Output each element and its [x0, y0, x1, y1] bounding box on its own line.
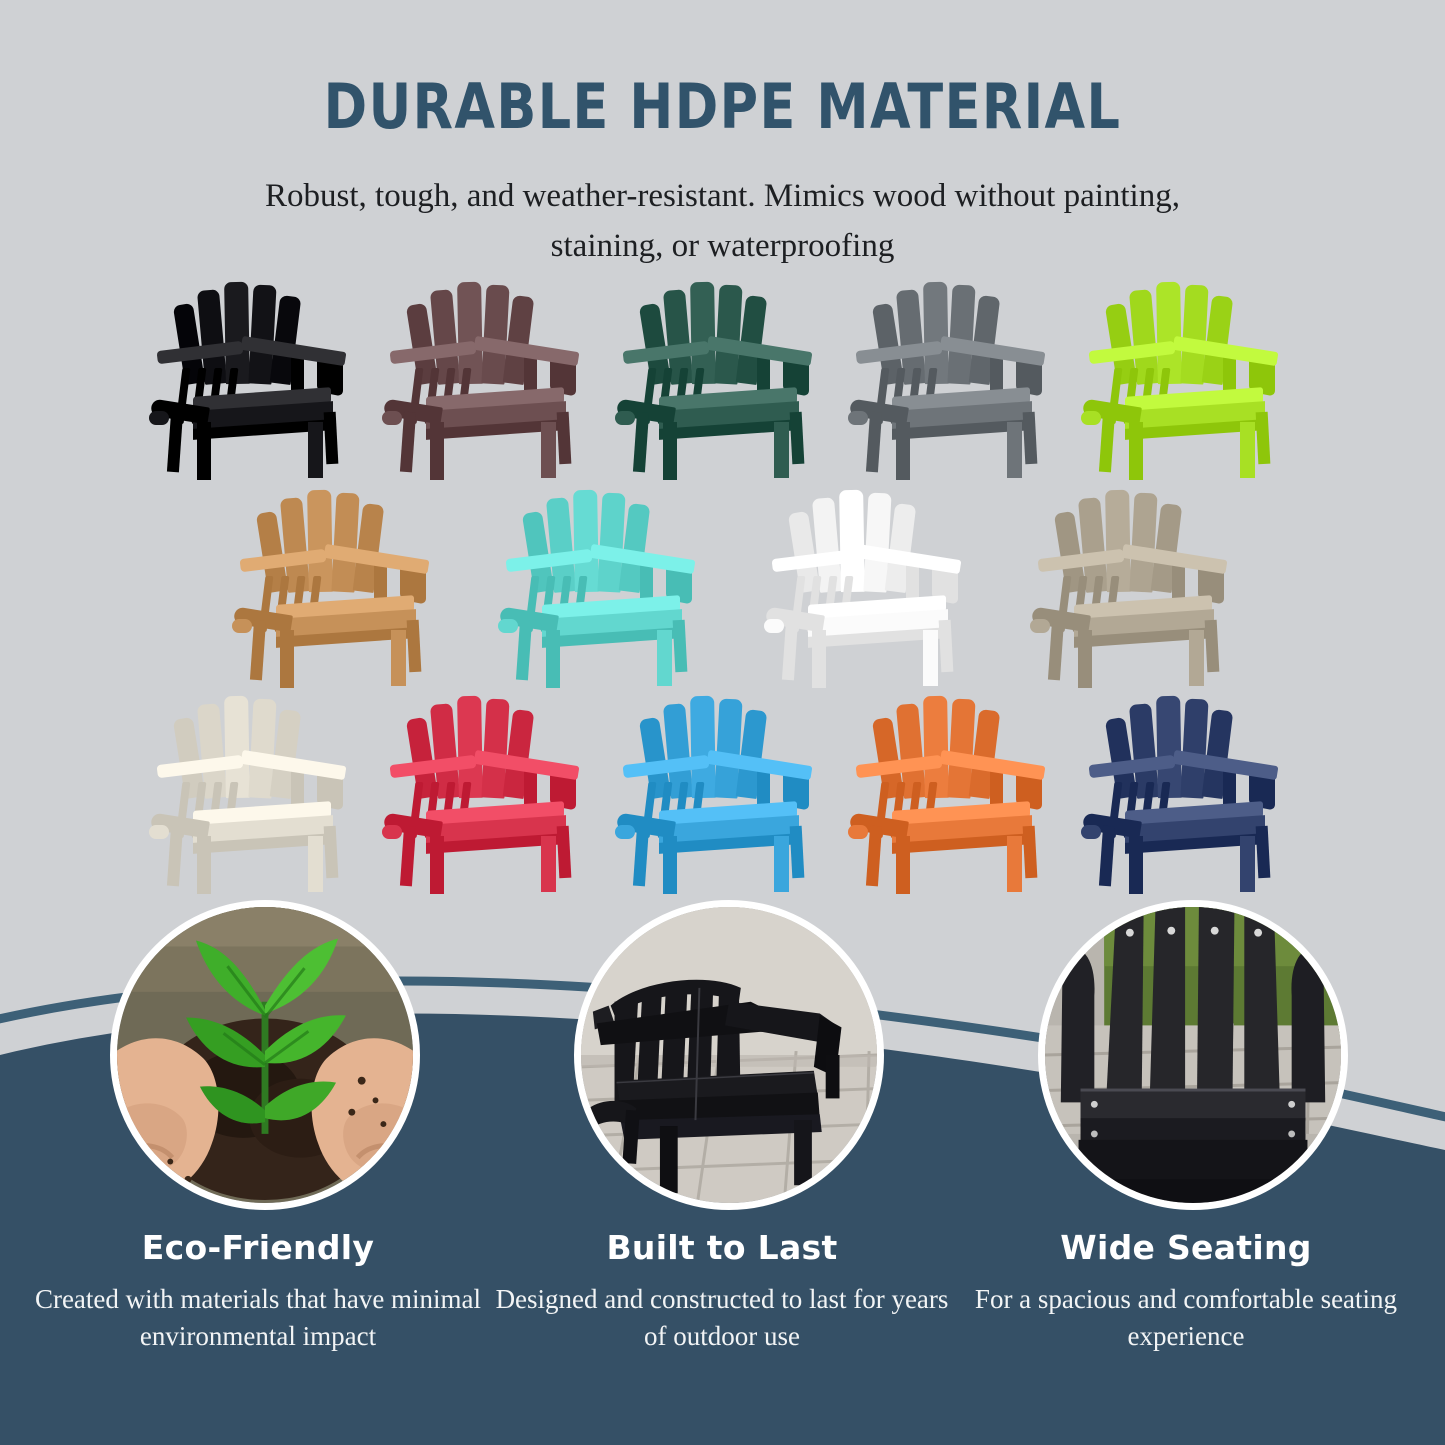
- chair-front-left-leg: [430, 836, 444, 894]
- chair-front-left-leg: [197, 422, 211, 480]
- chair-front-left-leg: [663, 836, 677, 894]
- black-chair-on-patio-photo: [581, 907, 877, 1203]
- chair-row-3: [0, 686, 1445, 894]
- chair-illustration: [145, 272, 359, 480]
- chair-back-left-leg: [866, 826, 882, 887]
- chair-swatch-ivory[interactable]: [145, 686, 359, 894]
- chair-front-left-leg: [430, 422, 444, 480]
- chair-folding-knob: [232, 619, 252, 633]
- chair-folding-knob: [149, 825, 169, 839]
- feature-eco-friendly: Eco-Friendly Created with materials that…: [23, 1228, 493, 1356]
- chair-front-right-leg: [391, 630, 406, 686]
- page-title: DURABLE HDPE MATERIAL: [43, 74, 1401, 139]
- chair-front-right-leg: [774, 836, 789, 892]
- chair-swatch-light-blue[interactable]: [611, 686, 825, 894]
- chair-back-right-leg: [939, 620, 954, 673]
- chair-folding-knob: [764, 619, 784, 633]
- chair-swatch-white[interactable]: [760, 480, 974, 688]
- chair-illustration: [494, 480, 708, 688]
- chair-back-right-leg: [1023, 826, 1038, 879]
- chair-illustration: [378, 272, 592, 480]
- chair-color-grid: [0, 272, 1445, 894]
- chair-back-right-leg: [790, 826, 805, 879]
- feature-wide-seating: Wide Seating For a spacious and comforta…: [951, 1228, 1421, 1356]
- chair-front-right-leg: [1189, 630, 1204, 686]
- chair-back-right-leg: [324, 412, 339, 465]
- chair-swatch-lime-green[interactable]: [1077, 272, 1291, 480]
- chair-back-left-leg: [633, 826, 649, 887]
- feature-title: Built to Last: [487, 1228, 957, 1267]
- chair-back-left-leg: [782, 620, 798, 681]
- chair-back-left-leg: [516, 620, 532, 681]
- chair-illustration: [844, 272, 1058, 480]
- feature-description: For a spacious and comfortable seating e…: [951, 1281, 1421, 1356]
- feature-title: Wide Seating: [951, 1228, 1421, 1267]
- chair-back-right-leg: [673, 620, 688, 673]
- feature-image-wide-seating: [1038, 900, 1348, 1210]
- chair-front-left-leg: [1129, 836, 1143, 894]
- chair-front-right-leg: [308, 836, 323, 892]
- chair-front-left-leg: [546, 630, 560, 688]
- chair-illustration: [611, 272, 825, 480]
- chair-front-right-leg: [308, 422, 323, 478]
- hands-holding-seedling-icon: [117, 907, 413, 1203]
- chair-illustration: [1077, 272, 1291, 480]
- chair-back-right-leg: [557, 826, 572, 879]
- chair-folding-knob: [1081, 411, 1101, 425]
- chair-illustration: [844, 686, 1058, 894]
- chair-row-1: [0, 272, 1445, 480]
- feature-built-to-last: Built to Last Designed and constructed t…: [487, 1228, 957, 1356]
- feature-image-eco-friendly: [110, 900, 420, 1210]
- chair-back-left-leg: [1099, 412, 1115, 473]
- chair-back-right-leg: [324, 826, 339, 879]
- chair-folding-knob: [615, 825, 635, 839]
- feature-image-built-to-last: [574, 900, 884, 1210]
- chair-back-right-leg: [1205, 620, 1220, 673]
- chair-folding-knob: [848, 825, 868, 839]
- chair-front-right-leg: [1007, 836, 1022, 892]
- chair-front-right-leg: [1007, 422, 1022, 478]
- chair-back-right-leg: [790, 412, 805, 465]
- chair-swatch-red[interactable]: [378, 686, 592, 894]
- chair-folding-knob: [149, 411, 169, 425]
- chair-swatch-taupe[interactable]: [1026, 480, 1240, 688]
- chair-back-left-leg: [167, 412, 183, 473]
- chair-folding-knob: [1030, 619, 1050, 633]
- chair-back-right-leg: [1256, 412, 1271, 465]
- chair-illustration: [145, 686, 359, 894]
- chair-front-left-leg: [812, 630, 826, 688]
- chair-swatch-gray[interactable]: [844, 272, 1058, 480]
- chair-front-right-leg: [1240, 836, 1255, 892]
- chair-illustration: [760, 480, 974, 688]
- chair-back-right-leg: [557, 412, 572, 465]
- chair-illustration: [611, 686, 825, 894]
- chair-back-left-leg: [250, 620, 266, 681]
- header: DURABLE HDPE MATERIAL Robust, tough, and…: [0, 74, 1445, 271]
- feature-description: Designed and constructed to last for yea…: [487, 1281, 957, 1356]
- chair-folding-knob: [1081, 825, 1101, 839]
- chair-illustration: [1026, 480, 1240, 688]
- chair-swatch-black[interactable]: [145, 272, 359, 480]
- chair-swatch-teak[interactable]: [228, 480, 442, 688]
- chair-front-left-leg: [1078, 630, 1092, 688]
- chair-illustration: [228, 480, 442, 688]
- chair-back-left-leg: [633, 412, 649, 473]
- chair-front-right-leg: [1240, 422, 1255, 478]
- chair-swatch-navy-blue[interactable]: [1077, 686, 1291, 894]
- chair-back-left-leg: [167, 826, 183, 887]
- chair-folding-knob: [498, 619, 518, 633]
- chair-back-right-leg: [1023, 412, 1038, 465]
- chair-back-left-leg: [866, 412, 882, 473]
- feature-description: Created with materials that have minimal…: [23, 1281, 493, 1356]
- chair-front-left-leg: [896, 836, 910, 894]
- chair-illustration: [1077, 686, 1291, 894]
- chair-front-right-leg: [657, 630, 672, 686]
- chair-back-left-leg: [1099, 826, 1115, 887]
- chair-swatch-dark-green[interactable]: [611, 272, 825, 480]
- chair-front-left-leg: [1129, 422, 1143, 480]
- chair-swatch-orange[interactable]: [844, 686, 1058, 894]
- page-subtitle: Robust, tough, and weather-resistant. Mi…: [223, 171, 1223, 271]
- chair-front-right-leg: [541, 422, 556, 478]
- chair-back-left-leg: [400, 412, 416, 473]
- chair-back-right-leg: [1256, 826, 1271, 879]
- chair-swatch-brown[interactable]: [378, 272, 592, 480]
- chair-front-right-leg: [923, 630, 938, 686]
- chair-front-left-leg: [896, 422, 910, 480]
- wide-chair-seat-closeup-photo: [1045, 907, 1341, 1203]
- feature-title: Eco-Friendly: [23, 1228, 493, 1267]
- chair-front-right-leg: [541, 836, 556, 892]
- chair-front-left-leg: [197, 836, 211, 894]
- infographic-canvas: DURABLE HDPE MATERIAL Robust, tough, and…: [0, 0, 1445, 1445]
- chair-folding-knob: [848, 411, 868, 425]
- chair-back-left-leg: [1048, 620, 1064, 681]
- chair-back-left-leg: [400, 826, 416, 887]
- chair-swatch-turquoise[interactable]: [494, 480, 708, 688]
- chair-back-right-leg: [407, 620, 422, 673]
- chair-folding-knob: [382, 411, 402, 425]
- chair-illustration: [378, 686, 592, 894]
- chair-front-left-leg: [280, 630, 294, 688]
- chair-folding-knob: [615, 411, 635, 425]
- chair-folding-knob: [382, 825, 402, 839]
- chair-front-right-leg: [774, 422, 789, 478]
- chair-row-2: [0, 480, 1445, 686]
- chair-front-left-leg: [663, 422, 677, 480]
